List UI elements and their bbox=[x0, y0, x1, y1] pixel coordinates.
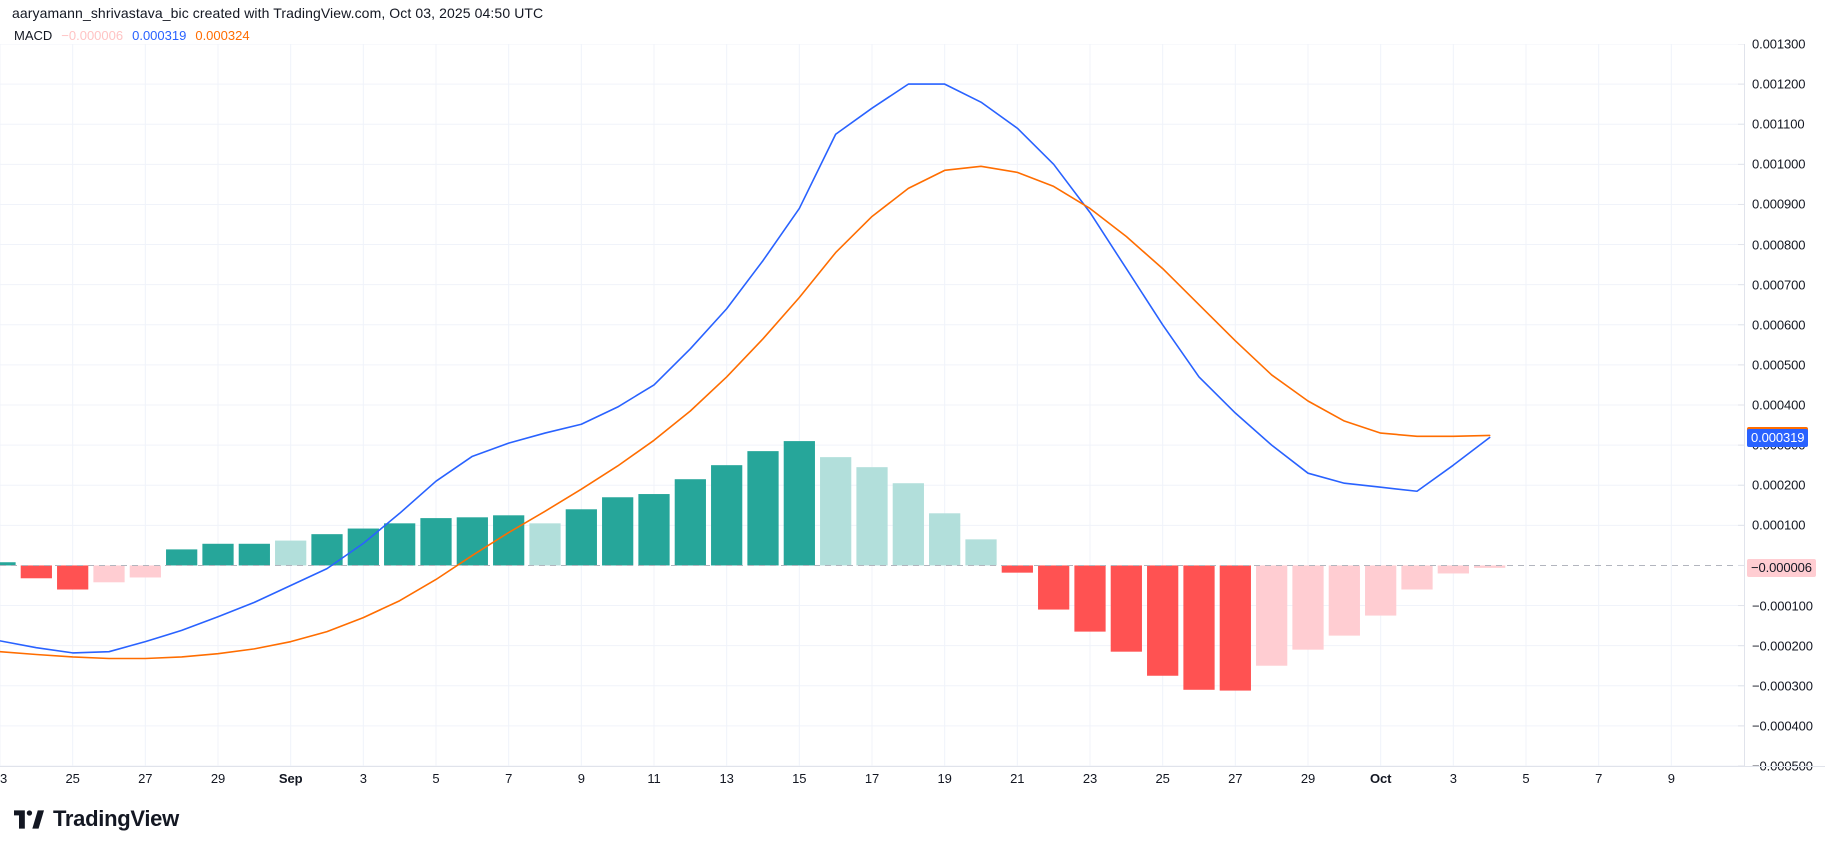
histogram-bar bbox=[1074, 565, 1105, 631]
price-axis-tick: 0.000400 bbox=[1752, 398, 1805, 413]
price-axis-tick: 0.001100 bbox=[1752, 117, 1804, 132]
price-axis-tick: 0.000100 bbox=[1752, 518, 1805, 533]
histogram-bar bbox=[638, 494, 669, 565]
histogram-bar bbox=[893, 483, 924, 565]
histogram-bar bbox=[965, 539, 996, 565]
macd-price-badge[interactable]: 0.000319 bbox=[1747, 429, 1808, 447]
price-axis-tick: 0.000800 bbox=[1752, 237, 1805, 252]
histogram-bar bbox=[1438, 565, 1469, 573]
histogram-bar bbox=[602, 497, 633, 565]
time-axis-tick: 5 bbox=[432, 771, 439, 786]
time-axis-tick: 13 bbox=[720, 771, 734, 786]
time-axis-tick: 7 bbox=[1595, 771, 1602, 786]
time-axis-tick: 15 bbox=[792, 771, 806, 786]
histogram-price-badge[interactable]: −0.000006 bbox=[1747, 559, 1816, 577]
time-axis-tick: 9 bbox=[1668, 771, 1675, 786]
price-axis-tick: 0.000700 bbox=[1752, 277, 1805, 292]
histogram-bar bbox=[1183, 565, 1214, 689]
price-axis-tick: 0.001000 bbox=[1752, 157, 1805, 172]
histogram-bar bbox=[929, 513, 960, 565]
tradingview-logo-icon bbox=[14, 810, 44, 829]
price-axis-tick: −0.000400 bbox=[1752, 718, 1813, 733]
histogram-bar bbox=[57, 565, 88, 589]
histogram-bar bbox=[420, 518, 451, 565]
legend-indicator-title: MACD bbox=[14, 28, 52, 43]
tradingview-wordmark: TradingView bbox=[53, 806, 179, 832]
time-axis-tick: 3 bbox=[360, 771, 367, 786]
price-axis-tick: 0.000900 bbox=[1752, 197, 1805, 212]
histogram-bar bbox=[457, 517, 488, 565]
indicator-legend[interactable]: MACD −0.000006 0.000319 0.000324 bbox=[14, 28, 250, 43]
histogram-bar bbox=[1329, 565, 1360, 635]
time-axis-tick: Sep bbox=[279, 771, 303, 786]
time-axis-tick: 9 bbox=[578, 771, 585, 786]
histogram-bar bbox=[784, 441, 815, 565]
histogram-bar bbox=[202, 544, 233, 566]
histogram-bar bbox=[275, 541, 306, 566]
time-axis-tick: Oct bbox=[1370, 771, 1391, 786]
price-axis-tick: −0.000300 bbox=[1752, 678, 1813, 693]
chart-plot-area[interactable] bbox=[0, 44, 1744, 766]
time-axis-tick: 19 bbox=[938, 771, 952, 786]
legend-signal-value: 0.000324 bbox=[195, 28, 249, 43]
histogram-bar bbox=[166, 549, 197, 565]
histogram-bar bbox=[856, 467, 887, 565]
price-axis[interactable]: 0.0013000.0012000.0011000.0010000.000900… bbox=[1744, 44, 1825, 766]
histogram-bar bbox=[1292, 565, 1323, 649]
histogram-bar bbox=[384, 523, 415, 565]
histogram-bar bbox=[1038, 565, 1069, 609]
legend-macd-value: 0.000319 bbox=[132, 28, 186, 43]
attribution-text: aaryamann_shrivastava_bic created with T… bbox=[12, 5, 543, 21]
histogram-bar bbox=[239, 544, 270, 566]
histogram-bar bbox=[21, 565, 52, 578]
histogram-bar bbox=[1111, 565, 1142, 651]
time-axis-tick: 27 bbox=[138, 771, 152, 786]
time-axis-tick: 21 bbox=[1010, 771, 1024, 786]
histogram-bar bbox=[675, 479, 706, 565]
histogram-bar bbox=[747, 451, 778, 565]
price-axis-tick: 0.000600 bbox=[1752, 317, 1805, 332]
time-axis-tick: 7 bbox=[505, 771, 512, 786]
histogram-bar bbox=[711, 465, 742, 565]
histogram-bar bbox=[130, 565, 161, 577]
histogram-bar bbox=[1147, 565, 1178, 675]
time-axis-tick: 25 bbox=[66, 771, 80, 786]
histogram-bar bbox=[1365, 565, 1396, 615]
time-axis-tick: 29 bbox=[211, 771, 225, 786]
histogram-bar bbox=[1256, 565, 1287, 665]
footer-branding: TradingView bbox=[14, 806, 179, 832]
time-axis-tick: 25 bbox=[1156, 771, 1170, 786]
time-axis-tick: 11 bbox=[647, 771, 660, 786]
histogram-bar bbox=[1220, 565, 1251, 690]
time-axis-tick: 23 bbox=[1083, 771, 1097, 786]
price-axis-tick: −0.000100 bbox=[1752, 598, 1813, 613]
tradingview-macd-chart: aaryamann_shrivastava_bic created with T… bbox=[0, 0, 1825, 849]
legend-histogram-value: −0.000006 bbox=[61, 28, 123, 43]
time-axis-tick: 29 bbox=[1301, 771, 1315, 786]
price-axis-tick: 0.001200 bbox=[1752, 77, 1805, 92]
time-axis-tick: 27 bbox=[1228, 771, 1242, 786]
chart-canvas bbox=[0, 44, 1744, 766]
histogram-bar bbox=[820, 457, 851, 565]
price-axis-tick: −0.000200 bbox=[1752, 638, 1813, 653]
price-axis-tick: 0.000500 bbox=[1752, 357, 1805, 372]
histogram-bar bbox=[566, 509, 597, 565]
histogram-bar bbox=[529, 523, 560, 565]
price-axis-tick: 0.000200 bbox=[1752, 478, 1805, 493]
time-axis-tick: 5 bbox=[1522, 771, 1529, 786]
time-axis-tick: 3 bbox=[1450, 771, 1457, 786]
time-axis[interactable]: 23252729Sep357911131517192123252729Oct35… bbox=[0, 766, 1825, 794]
histogram-bar bbox=[1401, 565, 1432, 589]
histogram-bar bbox=[93, 565, 124, 582]
time-axis-tick: 23 bbox=[0, 771, 7, 786]
histogram-bar bbox=[1002, 565, 1033, 572]
price-axis-tick: 0.001300 bbox=[1752, 37, 1805, 52]
time-axis-tick: 17 bbox=[865, 771, 879, 786]
